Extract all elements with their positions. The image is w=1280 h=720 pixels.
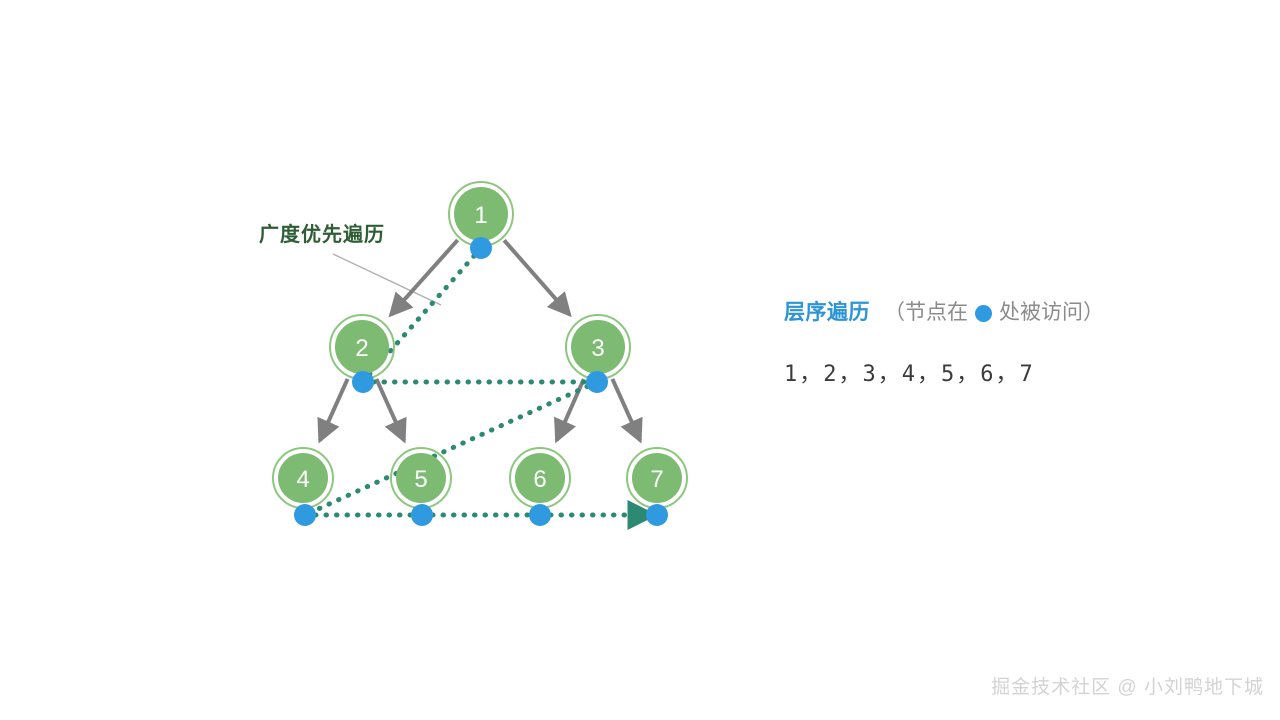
tree-node-7[interactable]: 7 <box>627 448 687 508</box>
panel-note-after: 处被访问） <box>999 300 1104 326</box>
visit-marker-dot-icon <box>975 305 992 322</box>
visit-dot-node-7[interactable] <box>646 504 668 526</box>
visit-dot-node-1[interactable] <box>470 237 492 259</box>
tree-edge-1-3 <box>504 240 569 314</box>
node-label: 4 <box>296 466 309 493</box>
tree-edge-2-4 <box>320 379 348 441</box>
tree-node-3[interactable]: 3 <box>566 315 630 379</box>
visit-dot-node-2[interactable] <box>352 371 374 393</box>
panel-note-before: （节点在 <box>884 300 968 326</box>
node-label: 7 <box>650 466 663 493</box>
node-label: 5 <box>414 466 427 493</box>
panel-note: （节点在 处被访问） <box>884 300 1104 326</box>
tree-node-1[interactable]: 1 <box>449 182 513 246</box>
tree-node-5[interactable]: 5 <box>391 448 451 508</box>
visit-dot-node-6[interactable] <box>529 504 551 526</box>
tree-edge-1-2 <box>391 240 458 315</box>
tree-edge-3-6 <box>557 379 584 441</box>
panel-title: 层序遍历 <box>784 300 870 326</box>
tree-node-6[interactable]: 6 <box>510 448 570 508</box>
panel-heading: 层序遍历 （节点在 处被访问） <box>784 300 1224 326</box>
node-label: 3 <box>591 335 604 362</box>
node-label: 1 <box>474 202 487 229</box>
node-label: 6 <box>533 466 546 493</box>
traversal-result-panel: 层序遍历 （节点在 处被访问） 1，2，3，4，5，6，7 <box>784 300 1224 388</box>
tree-node-2[interactable]: 2 <box>330 315 394 379</box>
tree-edge-2-5 <box>376 379 404 441</box>
visit-dot-node-4[interactable] <box>294 504 316 526</box>
bfs-annotation-label: 广度优先遍历 <box>259 218 385 247</box>
node-label: 2 <box>355 335 368 362</box>
tree-edge-3-7 <box>612 379 640 441</box>
visit-dot-node-3[interactable] <box>586 371 608 393</box>
traversal-sequence: 1，2，3，4，5，6，7 <box>784 356 1224 388</box>
watermark-text: 掘金技术社区 @ 小刘鸭地下城 <box>0 672 1264 699</box>
tree-node-4[interactable]: 4 <box>273 448 333 508</box>
visit-dot-node-5[interactable] <box>411 504 433 526</box>
